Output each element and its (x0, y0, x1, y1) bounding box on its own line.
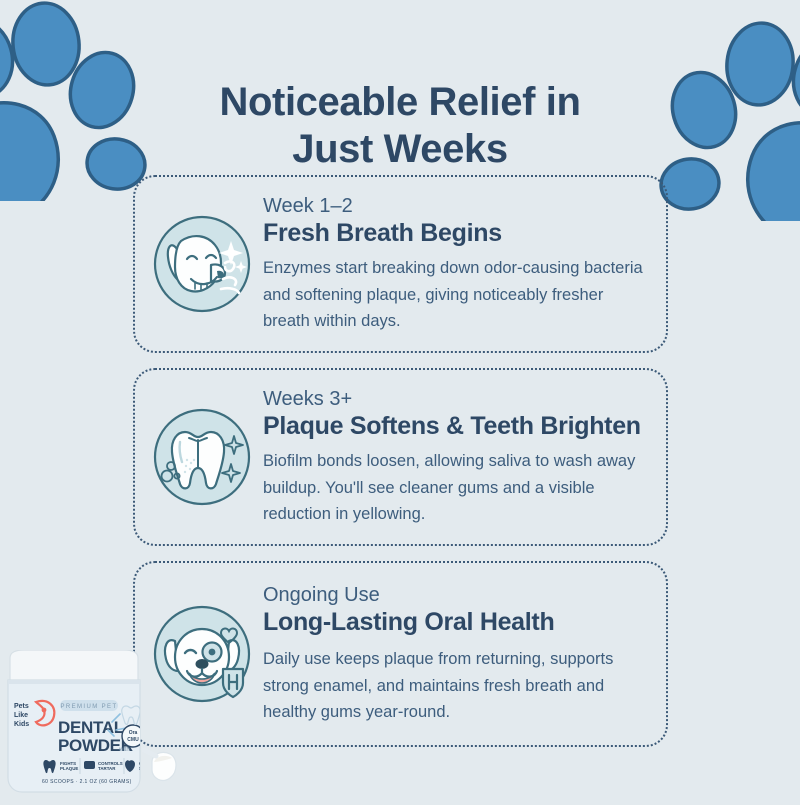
svg-text:Like: Like (14, 712, 28, 719)
card-text-block: Ongoing Use Long-Lasting Oral Health Dai… (263, 582, 648, 726)
card-text-block: Week 1–2 Fresh Breath Begins Enzymes sta… (263, 193, 648, 335)
card-description: Enzymes start breaking down odor-causing… (263, 255, 648, 335)
timeline-card-week-1-2: Week 1–2 Fresh Breath Begins Enzymes sta… (133, 175, 668, 353)
headline-line-1: Noticeable Relief in (220, 80, 581, 124)
clean-tooth-sparkle-icon (151, 406, 253, 508)
smiling-dog-fresh-breath-icon (151, 213, 253, 315)
timeline-card-ongoing-use: Ongoing Use Long-Lasting Oral Health Dai… (133, 561, 668, 747)
card-description: Biofilm bonds loosen, allowing saliva to… (263, 448, 648, 528)
svg-text:with: with (118, 747, 130, 753)
svg-text:TARTAR: TARTAR (98, 766, 116, 771)
svg-text:Ora: Ora (129, 730, 138, 736)
card-text-block: Weeks 3+ Plaque Softens & Teeth Brighten… (263, 386, 648, 528)
svg-text:PREMIUM PET: PREMIUM PET (60, 704, 117, 710)
page-title: Noticeable Relief in Just Weeks (0, 79, 800, 173)
headline-line-2: Just Weeks (0, 126, 800, 173)
svg-text:60 SCOOPS · 2.1 OZ (60 GRAMS: 60 SCOOPS · 2.1 OZ (60 GRAMS) (42, 779, 132, 785)
card-description: Daily use keeps plaque from returning, s… (263, 646, 648, 726)
card-title: Plaque Softens & Teeth Brighten (263, 412, 648, 441)
card-eyebrow: Ongoing Use (263, 584, 648, 607)
timeline-card-weeks-3-plus: Weeks 3+ Plaque Softens & Teeth Brighten… (133, 368, 668, 546)
svg-text:Kids: Kids (14, 721, 29, 728)
svg-text:Pets: Pets (14, 703, 29, 710)
svg-text:CMU: CMU (127, 737, 139, 743)
card-title: Long-Lasting Oral Health (263, 608, 648, 637)
timeline-card-list: Week 1–2 Fresh Breath Begins Enzymes sta… (133, 175, 668, 747)
card-title: Fresh Breath Begins (263, 219, 648, 248)
product-jar: Pets Like Kids PREMIUM PET DENTAL POWDER… (2, 650, 177, 800)
svg-text:PLAQUE: PLAQUE (60, 766, 78, 771)
card-eyebrow: Week 1–2 (263, 195, 648, 218)
measuring-scoop (144, 750, 176, 780)
card-eyebrow: Weeks 3+ (263, 388, 648, 411)
